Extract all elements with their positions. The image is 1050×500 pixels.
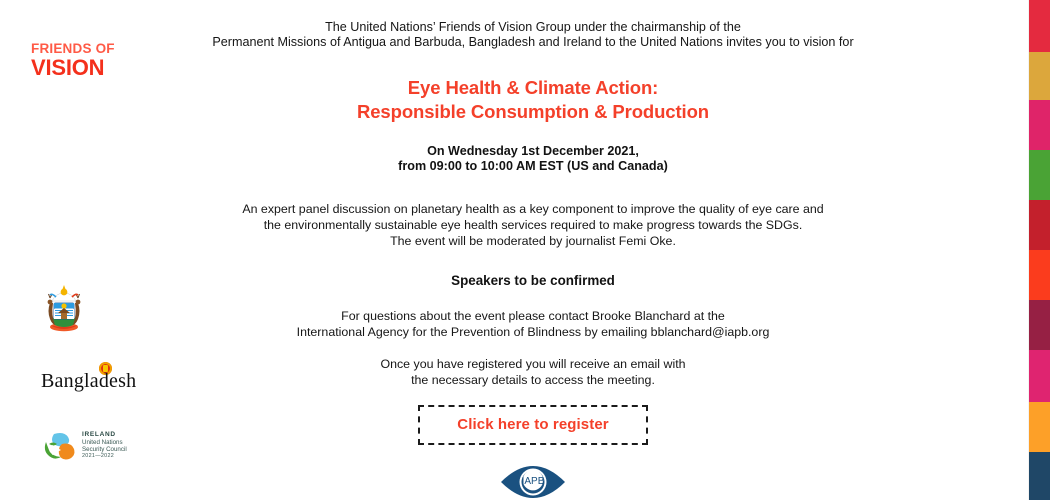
ireland-unsc-logo: IRELAND United Nations Security Council … bbox=[40, 428, 160, 468]
invitation-content: The United Nations’ Friends of Vision Gr… bbox=[190, 0, 876, 500]
event-time: from 09:00 to 10:00 AM EST (US and Canad… bbox=[190, 159, 876, 174]
bangladesh-logo-label: Bangladesh bbox=[41, 371, 136, 391]
decorative-color-rail bbox=[1028, 0, 1050, 500]
ireland-label: IRELAND bbox=[82, 431, 127, 439]
band-red bbox=[1029, 0, 1050, 52]
ireland-unsc-mark-icon bbox=[40, 430, 80, 464]
event-datetime: On Wednesday 1st December 2021, from 09:… bbox=[190, 125, 876, 175]
event-date: On Wednesday 1st December 2021, bbox=[190, 144, 876, 159]
contact-line-2: International Agency for the Prevention … bbox=[190, 325, 876, 341]
event-description-line-2: the environmentally sustainable eye heal… bbox=[190, 218, 876, 234]
band-dark-red bbox=[1029, 200, 1050, 250]
iapb-eye-logo-icon: IAPB bbox=[499, 465, 567, 499]
ireland-sub2: Security Council bbox=[82, 446, 127, 453]
register-button-wrapper: Click here to register bbox=[190, 389, 876, 445]
band-gold bbox=[1029, 52, 1050, 100]
sponsor-logo-rail: FRIENDS OF VISION bbox=[0, 0, 190, 500]
band-navy bbox=[1029, 452, 1050, 500]
band-green bbox=[1029, 150, 1050, 200]
contact-info: For questions about the event please con… bbox=[190, 288, 876, 341]
friends-of-vision-logo: FRIENDS OF VISION bbox=[31, 42, 115, 79]
event-title-line-1: Eye Health & Climate Action: bbox=[190, 76, 876, 100]
band-magenta bbox=[1029, 100, 1050, 150]
contact-line-1: For questions about the event please con… bbox=[190, 309, 876, 325]
register-button[interactable]: Click here to register bbox=[418, 405, 648, 445]
bangladesh-logo: Bangladesh bbox=[38, 362, 148, 394]
registration-followup-line-2: the necessary details to access the meet… bbox=[190, 373, 876, 389]
ireland-unsc-text: IRELAND United Nations Security Council … bbox=[82, 431, 127, 460]
ireland-sub1: United Nations bbox=[82, 439, 127, 446]
friends-of-vision-logo-line2: VISION bbox=[31, 57, 115, 79]
event-description-line-1: An expert panel discussion on planetary … bbox=[190, 202, 876, 218]
event-title: Eye Health & Climate Action: Responsible… bbox=[190, 51, 876, 125]
friends-of-vision-logo-line1: FRIENDS OF bbox=[31, 42, 115, 56]
event-description: An expert panel discussion on planetary … bbox=[190, 175, 876, 250]
ireland-years: 2021—2022 bbox=[82, 453, 127, 459]
band-orange bbox=[1029, 402, 1050, 452]
intro-line-1: The United Nations’ Friends of Vision Gr… bbox=[190, 20, 876, 35]
event-description-line-3: The event will be moderated by journalis… bbox=[190, 234, 876, 250]
invitation-flyer: FRIENDS OF VISION bbox=[0, 0, 1050, 500]
intro-paragraph: The United Nations’ Friends of Vision Gr… bbox=[190, 0, 876, 51]
speakers-note: Speakers to be confirmed bbox=[190, 249, 876, 288]
registration-followup: Once you have registered you will receiv… bbox=[190, 341, 876, 389]
iapb-logo-wrapper: IAPB bbox=[190, 445, 876, 499]
band-pink bbox=[1029, 350, 1050, 402]
antigua-and-barbuda-coat-of-arms-icon bbox=[44, 283, 84, 333]
band-maroon bbox=[1029, 300, 1050, 350]
band-orange-red bbox=[1029, 250, 1050, 300]
registration-followup-line-1: Once you have registered you will receiv… bbox=[190, 357, 876, 373]
svg-text:IAPB: IAPB bbox=[522, 476, 545, 487]
intro-line-2: Permanent Missions of Antigua and Barbud… bbox=[190, 35, 876, 50]
event-title-line-2: Responsible Consumption & Production bbox=[190, 100, 876, 124]
